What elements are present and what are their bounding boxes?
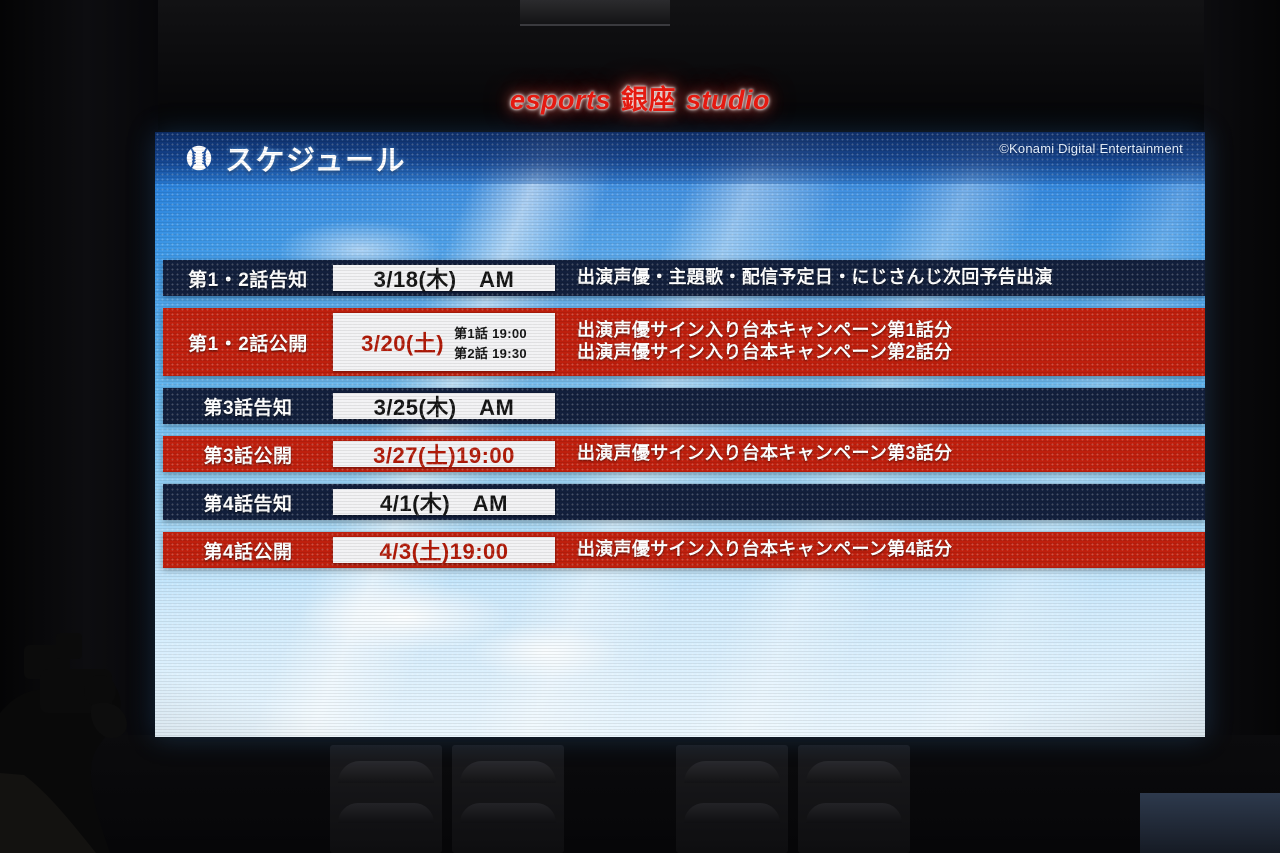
copyright-notice: ©Konami Digital Entertainment xyxy=(999,141,1183,156)
ceiling-fixture xyxy=(520,0,670,26)
equipment-rack xyxy=(798,745,910,853)
schedule-row-label: 第1・2話公開 xyxy=(163,329,333,356)
room-left-wall xyxy=(0,0,158,853)
venue-logo: esports 銀座 studio xyxy=(0,78,1280,117)
schedule-row-description-line: 出演声優サイン入り台本キャンペーン第4話分 xyxy=(577,539,1205,561)
schedule-row-date: 3/25(木) AM xyxy=(374,390,515,422)
schedule-row-label: 第3話公開 xyxy=(163,441,333,468)
schedule-row-description: 出演声優・主題歌・配信予定日・にじさんじ次回予告出演 xyxy=(555,267,1205,289)
schedule-row-date: 4/3(土)19:00 xyxy=(379,534,508,566)
schedule-row-time: 第2話 19:30 xyxy=(454,343,527,362)
schedule-row: 第1・2話公開3/20(土)第1話 19:00第2話 19:30出演声優サイン入… xyxy=(163,308,1205,376)
page-title: スケジュール xyxy=(225,137,406,179)
schedule-row-datebox: 4/1(木) AM xyxy=(333,489,555,515)
schedule-row-description-line: 出演声優サイン入り台本キャンペーン第2話分 xyxy=(577,342,1205,364)
equipment-rack xyxy=(676,745,788,853)
schedule-row: 第3話告知3/25(木) AM xyxy=(163,388,1205,424)
schedule-row: 第4話公開4/3(土)19:00出演声優サイン入り台本キャンペーン第4話分 xyxy=(163,532,1205,568)
schedule-row-label: 第4話公開 xyxy=(163,537,333,564)
equipment-rack xyxy=(330,745,442,853)
schedule-row-description: 出演声優サイン入り台本キャンペーン第3話分 xyxy=(555,443,1205,465)
room-right-wall xyxy=(1204,0,1280,853)
venue-logo-jp: 銀座 xyxy=(621,85,676,115)
schedule-row-datebox: 4/3(土)19:00 xyxy=(333,537,555,563)
schedule-table: 第1・2話告知3/18(木) AM出演声優・主題歌・配信予定日・にじさんじ次回予… xyxy=(163,260,1205,580)
venue-logo-suffix: studio xyxy=(686,85,770,115)
schedule-row-datebox: 3/25(木) AM xyxy=(333,393,555,419)
slide-header: スケジュール ©Konami Digital Entertainment xyxy=(155,132,1205,184)
schedule-row-date: 3/18(木) AM xyxy=(374,262,515,294)
schedule-row-times: 第1話 19:00第2話 19:30 xyxy=(454,323,527,362)
schedule-row-date: 3/20(土) xyxy=(361,326,444,358)
schedule-row-description: 出演声優サイン入り台本キャンペーン第4話分 xyxy=(555,539,1205,561)
schedule-row: 第1・2話告知3/18(木) AM出演声優・主題歌・配信予定日・にじさんじ次回予… xyxy=(163,260,1205,296)
schedule-row-datebox: 3/27(土)19:00 xyxy=(333,441,555,467)
schedule-row-date: 3/27(土)19:00 xyxy=(373,438,515,470)
schedule-row-description-line: 出演声優サイン入り台本キャンペーン第1話分 xyxy=(577,320,1205,342)
venue-logo-prefix: esports xyxy=(510,85,611,115)
baseball-icon xyxy=(185,144,213,172)
schedule-row: 第3話公開3/27(土)19:00出演声優サイン入り台本キャンペーン第3話分 xyxy=(163,436,1205,472)
schedule-row-datebox: 3/18(木) AM xyxy=(333,265,555,291)
photo-scene: esports 銀座 studio スケジュール ©Konami xyxy=(0,0,1280,853)
schedule-row-date: 4/1(木) AM xyxy=(380,486,508,518)
schedule-row-label: 第4話告知 xyxy=(163,489,333,516)
schedule-row-time: 第1話 19:00 xyxy=(454,323,527,342)
schedule-row: 第4話告知4/1(木) AM xyxy=(163,484,1205,520)
schedule-row-description-line: 出演声優サイン入り台本キャンペーン第3話分 xyxy=(577,443,1205,465)
schedule-row-label: 第3話告知 xyxy=(163,393,333,420)
schedule-row-description: 出演声優サイン入り台本キャンペーン第1話分出演声優サイン入り台本キャンペーン第2… xyxy=(555,320,1205,364)
stage-floor xyxy=(0,735,1280,853)
schedule-row-label: 第1・2話告知 xyxy=(163,265,333,292)
schedule-row-datebox: 3/20(土)第1話 19:00第2話 19:30 xyxy=(333,313,555,371)
control-desk-glow xyxy=(1140,793,1280,853)
equipment-rack xyxy=(452,745,564,853)
schedule-row-description-line: 出演声優・主題歌・配信予定日・にじさんじ次回予告出演 xyxy=(577,267,1205,289)
presentation-slide: スケジュール ©Konami Digital Entertainment 第1・… xyxy=(155,132,1205,737)
